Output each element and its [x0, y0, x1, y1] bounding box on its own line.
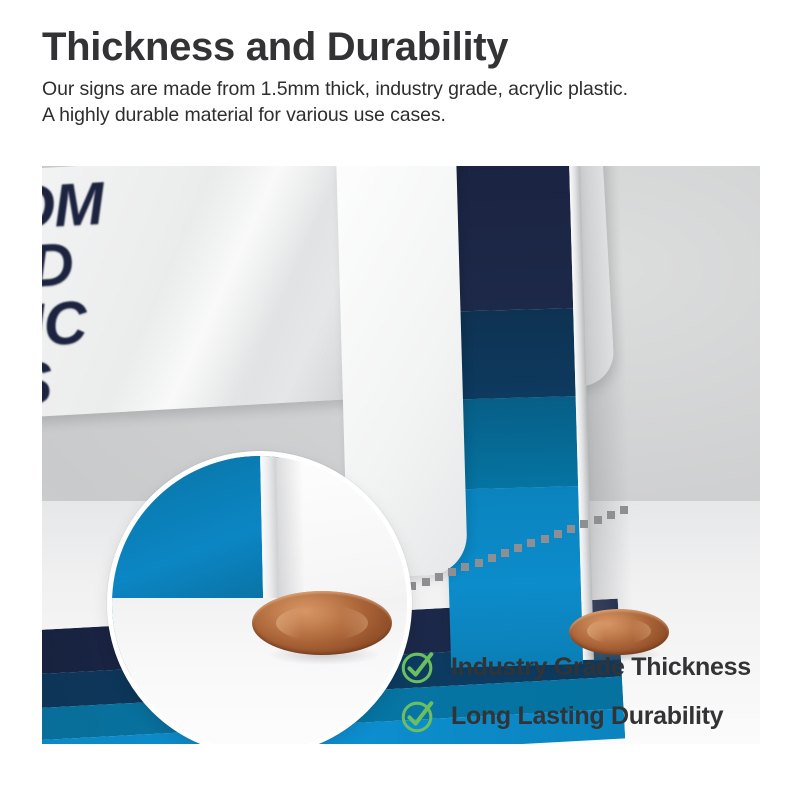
connector-dash [475, 559, 483, 567]
feature-item: Industry Grade Thickness [399, 648, 751, 686]
magnified-coin-relief [276, 605, 368, 641]
page-title: Thickness and Durability [42, 26, 772, 68]
connector-dash [567, 525, 575, 533]
check-circle-icon [399, 648, 437, 686]
connector-dash [461, 563, 469, 571]
magnified-penny-coin [252, 591, 392, 671]
connector-dash [527, 539, 535, 547]
connector-dash [514, 544, 522, 552]
check-circle-icon [399, 697, 437, 735]
connector-dash [607, 511, 615, 519]
feature-item: Long Lasting Durability [399, 697, 751, 735]
infographic-page: Thickness and Durability Our signs are m… [0, 0, 800, 800]
subtitle-line-2: A highly durable material for various us… [42, 102, 772, 128]
connector-dash [435, 573, 443, 581]
connector-dash [448, 568, 456, 576]
connector-dash [501, 549, 509, 557]
subtitle-line-1: Our signs are made from 1.5mm thick, ind… [42, 78, 628, 100]
page-subtitle: Our signs are made from 1.5mm thick, ind… [42, 76, 772, 129]
connector-dash [620, 506, 628, 514]
feature-label: Industry Grade Thickness [451, 653, 751, 682]
sign-printed-text: USTOM INTED ASTIC GNS [42, 175, 114, 422]
coin-relief-detail [587, 618, 651, 644]
feature-list: Industry Grade Thickness Long Lasting Du… [399, 648, 751, 746]
connector-dash [488, 554, 496, 562]
connector-dash [422, 578, 430, 586]
feature-label: Long Lasting Durability [451, 702, 723, 731]
connector-dash [554, 530, 562, 538]
connector-dash [541, 535, 549, 543]
header: Thickness and Durability Our signs are m… [42, 26, 772, 129]
connector-dash [580, 520, 588, 528]
magnifier-bubble [107, 451, 412, 744]
connector-dash [594, 516, 602, 524]
magnifier-connector-dashes [382, 496, 642, 606]
